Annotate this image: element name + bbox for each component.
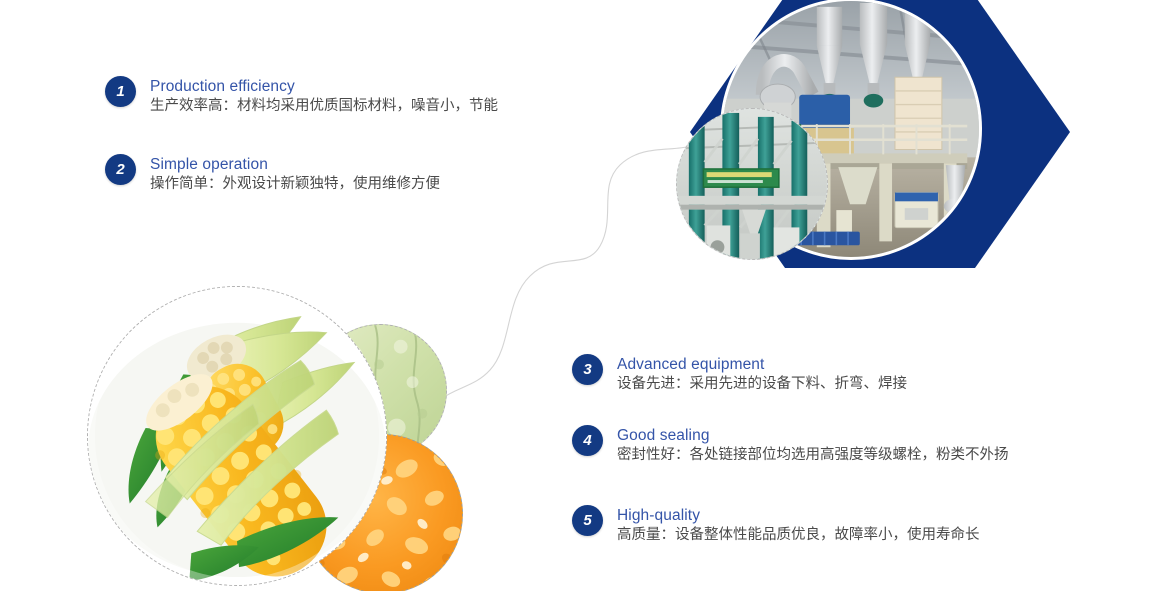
feature-text-4: Good sealing 密封性好：各处链接部位均选用高强度等级螺栓，粉类不外扬: [617, 425, 1009, 466]
feature-title-2: Simple operation: [150, 155, 440, 174]
feature-title-3: Advanced equipment: [617, 355, 907, 374]
feature-desc-5: 高质量：设备整体性能品质优良，故障率小，使用寿命长: [617, 525, 980, 546]
feature-infographic: 1 Production efficiency 生产效率高：材料均采用优质国标材…: [0, 0, 1154, 591]
feature-text-3: Advanced equipment 设备先进：采用先进的设备下料、折弯、焊接: [617, 354, 907, 395]
feature-desc-3: 设备先进：采用先进的设备下料、折弯、焊接: [617, 374, 907, 395]
feature-item-2[interactable]: 2 Simple operation 操作简单：外观设计新颖独特，使用维修方便: [105, 154, 440, 195]
feature-badge-4: 4: [572, 425, 603, 456]
feature-title-4: Good sealing: [617, 426, 1009, 445]
feature-item-3[interactable]: 3 Advanced equipment 设备先进：采用先进的设备下料、折弯、焊…: [572, 354, 907, 395]
feature-text-1: Production efficiency 生产效率高：材料均采用优质国标材料，…: [150, 76, 498, 117]
feature-badge-3: 3: [572, 354, 603, 385]
feature-item-1[interactable]: 1 Production efficiency 生产效率高：材料均采用优质国标材…: [105, 76, 498, 117]
feature-item-4[interactable]: 4 Good sealing 密封性好：各处链接部位均选用高强度等级螺栓，粉类不…: [572, 425, 1009, 466]
feature-badge-1: 1: [105, 76, 136, 107]
corn-cobs-photo: [87, 286, 387, 586]
feature-badge-2: 2: [105, 154, 136, 185]
corn-media-group: [85, 282, 485, 591]
green-machinery-photo: [676, 108, 828, 260]
feature-item-5[interactable]: 5 High-quality 高质量：设备整体性能品质优良，故障率小，使用寿命长: [572, 505, 980, 546]
hexagon-media-group: [690, 0, 1070, 268]
feature-desc-2: 操作简单：外观设计新颖独特，使用维修方便: [150, 174, 440, 195]
feature-badge-5: 5: [572, 505, 603, 536]
feature-title-1: Production efficiency: [150, 77, 498, 96]
feature-text-5: High-quality 高质量：设备整体性能品质优良，故障率小，使用寿命长: [617, 505, 980, 546]
feature-title-5: High-quality: [617, 506, 980, 525]
feature-desc-4: 密封性好：各处链接部位均选用高强度等级螺栓，粉类不外扬: [617, 445, 1009, 466]
feature-desc-1: 生产效率高：材料均采用优质国标材料，噪音小，节能: [150, 96, 498, 117]
feature-text-2: Simple operation 操作简单：外观设计新颖独特，使用维修方便: [150, 154, 440, 195]
